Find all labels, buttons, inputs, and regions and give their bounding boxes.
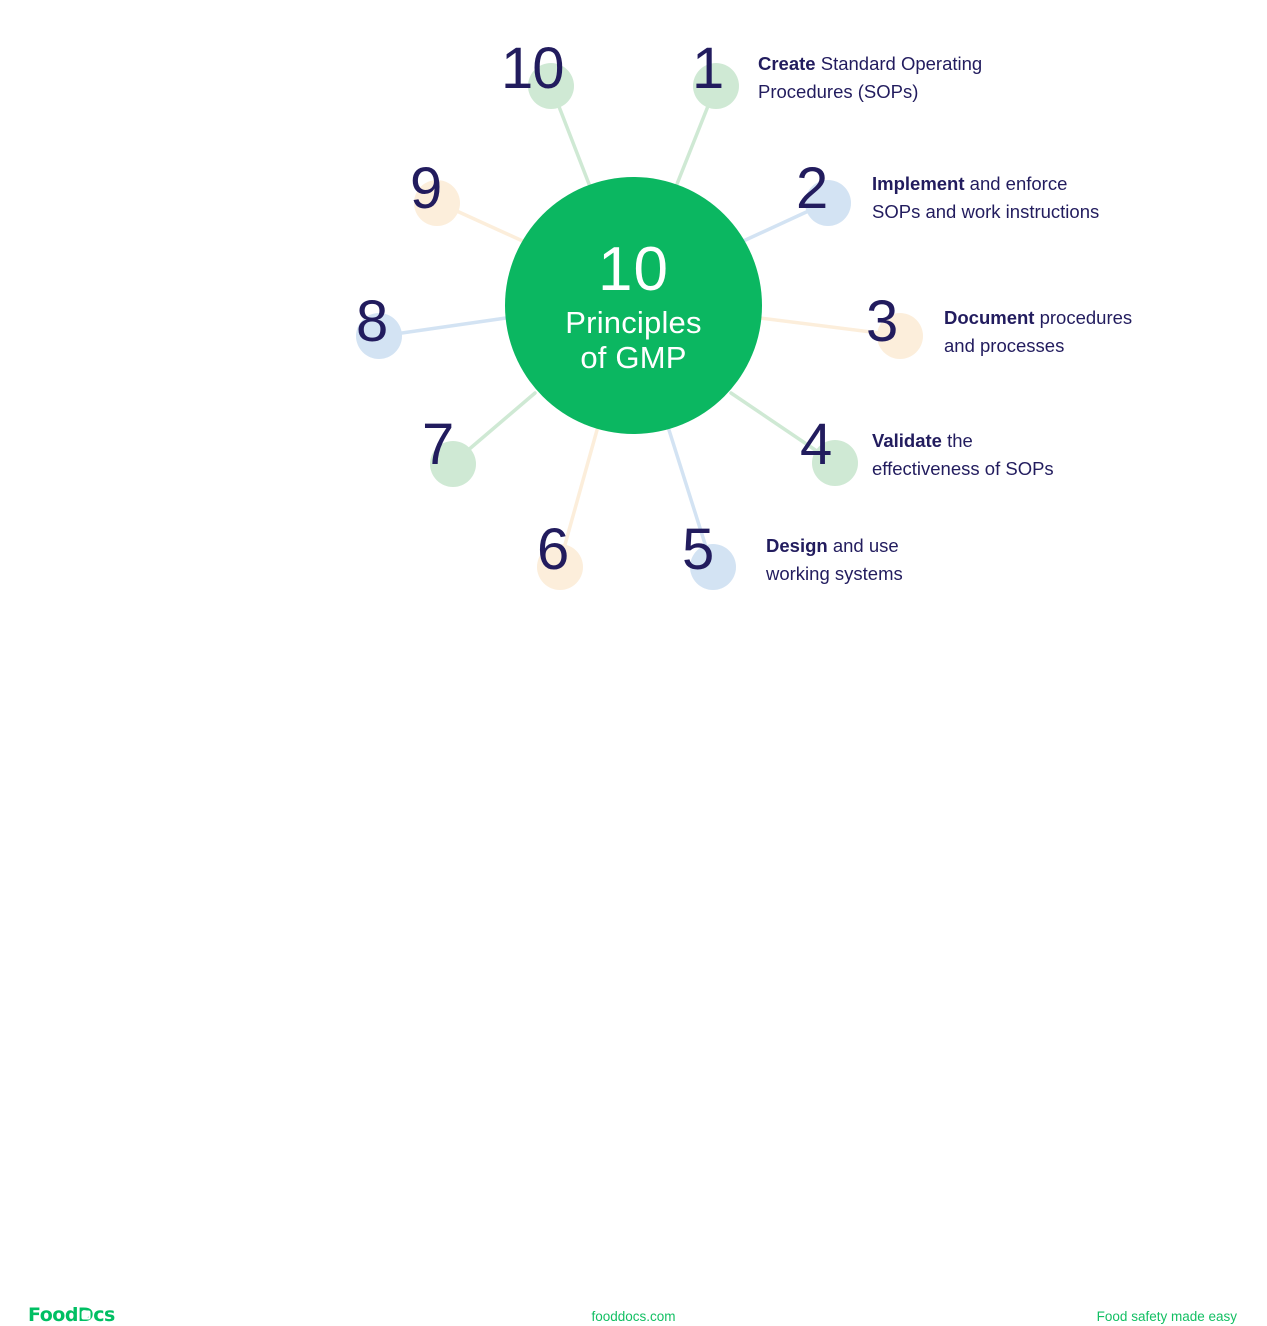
hub-line-2: of GMP (580, 342, 686, 373)
principle-number-10: 10 (501, 40, 564, 98)
principle-label-5: Design and use working systems (766, 532, 903, 588)
principle-label-3: Document procedures and processes (944, 304, 1132, 360)
principle-rest-4: the (942, 430, 973, 451)
principle-bold-5: Design (766, 535, 828, 556)
principle-bold-1: Create (758, 53, 816, 74)
principle-line2-4: effectiveness of SOPs (872, 455, 1054, 483)
principle-number-3: 3 (866, 293, 897, 351)
principle-label-1: Create Standard Operating Procedures (SO… (758, 50, 982, 106)
principle-number-4: 4 (800, 416, 831, 474)
principle-number-2: 2 (796, 160, 827, 218)
principle-line2-2: SOPs and work instructions (872, 198, 1099, 226)
principle-rest-1: Standard Operating (816, 53, 983, 74)
principle-label-4: Validate the effectiveness of SOPs (872, 427, 1054, 483)
principle-number-9: 9 (410, 160, 441, 218)
principle-number-6: 6 (537, 521, 568, 579)
principle-number-8: 8 (356, 293, 387, 351)
hub-number: 10 (598, 239, 669, 301)
principle-rest-5: and use (828, 535, 899, 556)
principle-rest-3: procedures (1034, 307, 1132, 328)
principle-line2-1: Procedures (SOPs) (758, 78, 982, 106)
footer: FoodDcs fooddocs.com Food safety made ea… (0, 641, 1267, 701)
principle-label-2: Implement and enforce SOPs and work inst… (872, 170, 1099, 226)
principle-number-1: 1 (692, 40, 723, 98)
principle-number-7: 7 (422, 416, 453, 474)
footer-website[interactable]: fooddocs.com (0, 1309, 1267, 1324)
infographic-canvas: 10 Principles of GMP 1 Create Standard O… (0, 0, 1267, 701)
hub-line-1: Principles (565, 307, 701, 338)
principle-line2-5: working systems (766, 560, 903, 588)
principle-line2-3: and processes (944, 332, 1132, 360)
principle-bold-2: Implement (872, 173, 965, 194)
center-hub: 10 Principles of GMP (505, 177, 762, 434)
principle-rest-2: and enforce (965, 173, 1068, 194)
principle-bold-4: Validate (872, 430, 942, 451)
principle-number-5: 5 (682, 521, 713, 579)
footer-tagline: Food safety made easy (1097, 1309, 1237, 1324)
principle-bold-3: Document (944, 307, 1034, 328)
